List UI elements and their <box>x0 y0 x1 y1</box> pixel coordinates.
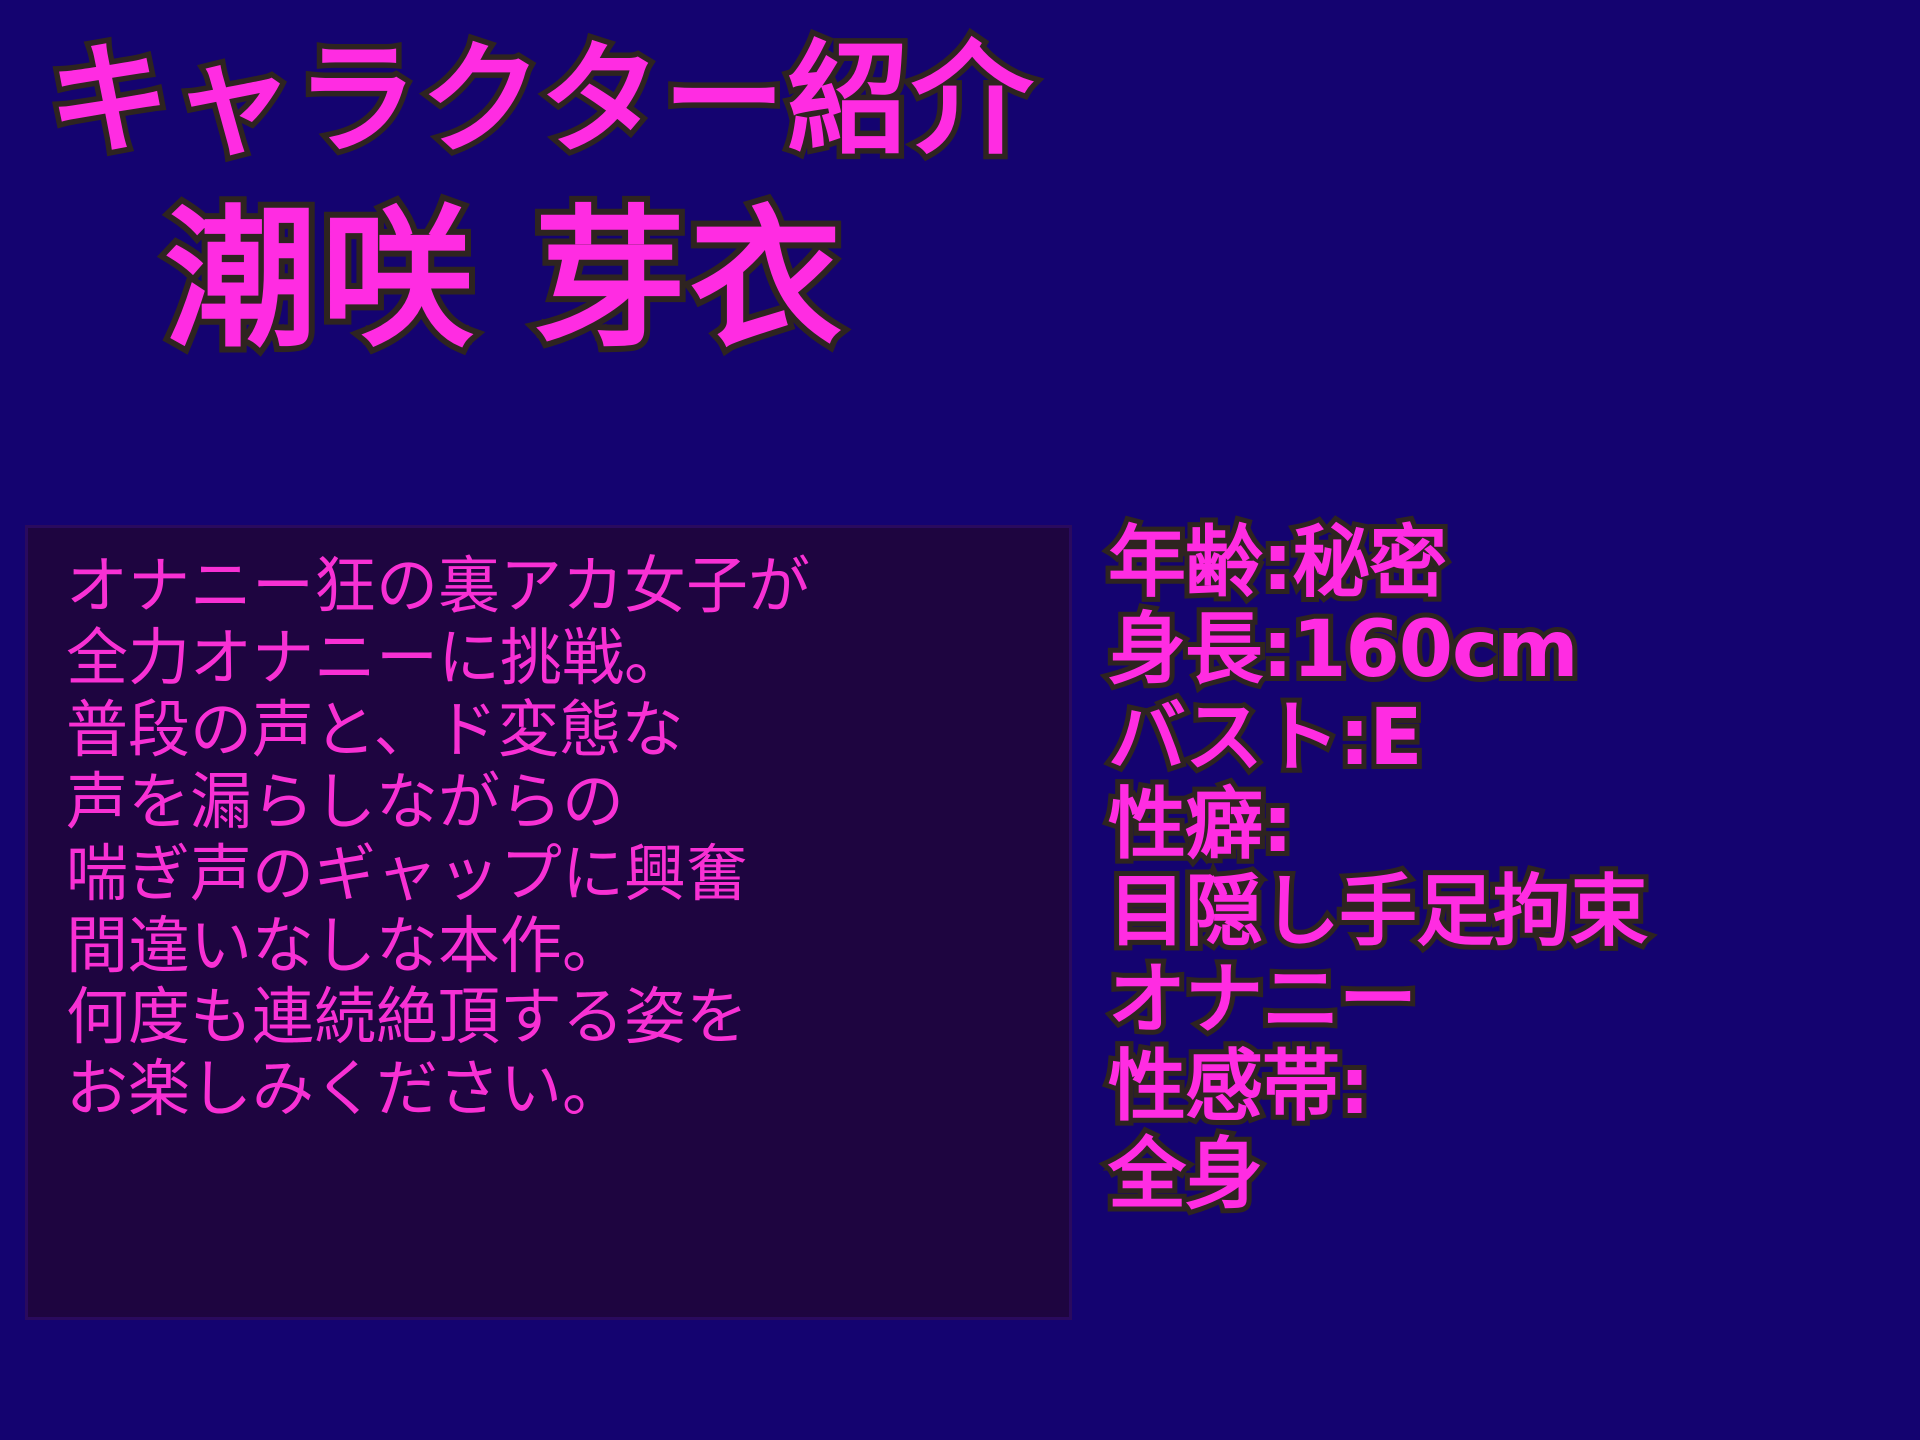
character-intro-slide: キャラクター紹介 潮咲 芽衣 オナニー狂の裏アカ女子が 全力オナニーに挑戦。 普… <box>0 0 1920 1440</box>
stat-line-fetish-value-1: 目隠し手足拘束 <box>1108 869 1920 956</box>
section-title: キャラクター紹介 <box>48 36 1035 164</box>
stat-line-height: 身長:160cm <box>1108 607 1920 694</box>
stat-line-fetish-value-2: オナニー <box>1108 957 1920 1044</box>
stat-line-erogenous-label: 性感帯: <box>1108 1044 1920 1131</box>
stat-line-erogenous-value: 全身 <box>1108 1132 1920 1219</box>
description-panel: オナニー狂の裏アカ女子が 全力オナニーに挑戦。 普段の声と、ド変態な 声を漏らし… <box>25 525 1072 1320</box>
stat-line-age: 年齢:秘密 <box>1108 520 1920 607</box>
character-stats-list: 年齢:秘密 身長:160cm バスト:E 性癖: 目隠し手足拘束 オナニー 性感… <box>1108 520 1920 1219</box>
character-name: 潮咲 芽衣 <box>165 200 846 360</box>
heading-block: キャラクター紹介 潮咲 芽衣 <box>0 0 1920 470</box>
description-text: オナニー狂の裏アカ女子が 全力オナニーに挑戦。 普段の声と、ド変態な 声を漏らし… <box>66 550 1056 1125</box>
stat-line-fetish-label: 性癖: <box>1108 782 1920 869</box>
stat-line-bust: バスト:E <box>1108 695 1920 782</box>
